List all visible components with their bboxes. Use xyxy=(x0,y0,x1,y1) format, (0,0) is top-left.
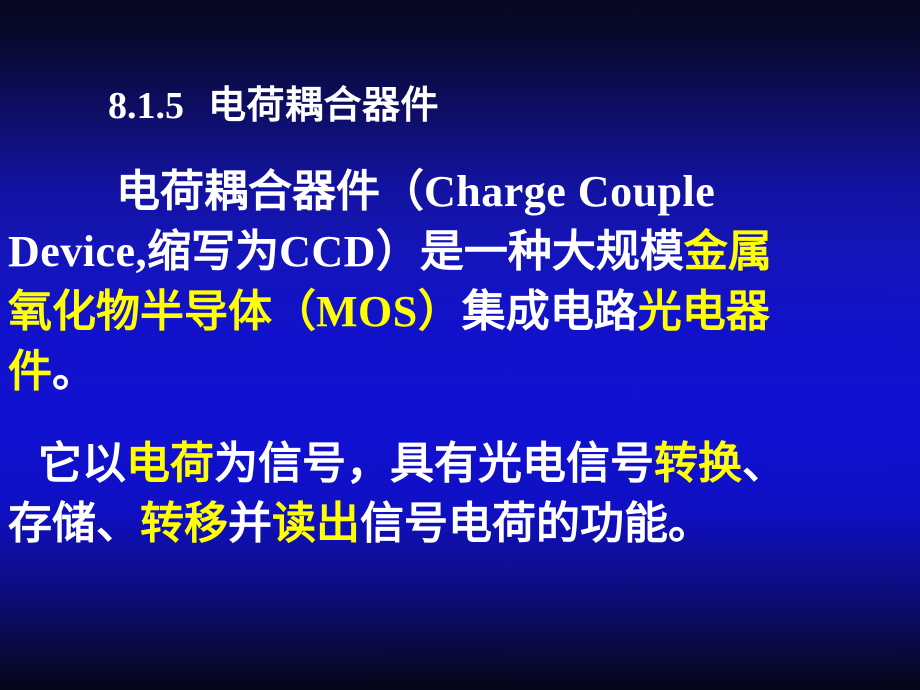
text-run: 它以 xyxy=(38,439,126,488)
text-run: 并 xyxy=(228,499,272,548)
text-run: 信号电荷的功能。 xyxy=(360,499,712,548)
text-run: 存储、 xyxy=(8,499,140,548)
text-run: 集成电路 xyxy=(462,287,638,336)
highlight-text-run: 电荷 xyxy=(126,439,214,488)
text-run: Device, xyxy=(8,227,147,276)
paragraph-function: 它以电荷为信号，具有光电信号转换、存储、转移并读出信号电荷的功能。 xyxy=(0,434,920,554)
slide-title: 8.1.5电荷耦合器件 xyxy=(108,83,439,129)
text-run: 电荷耦合器件（ xyxy=(116,167,424,216)
slide-title-number: 8.1.5 xyxy=(108,85,184,127)
highlight-text-run: ） xyxy=(418,287,462,336)
text-run: CCD xyxy=(279,227,376,276)
highlight-text-run: 件 xyxy=(8,347,52,396)
paragraph-definition: 电荷耦合器件（Charge CoupleDevice,缩写为CCD）是一种大规模… xyxy=(0,162,920,402)
highlight-text-run: 读出 xyxy=(272,499,360,548)
text-line: 氧化物半导体（MOS）集成电路光电器 xyxy=(0,282,920,342)
presentation-slide: 8.1.5电荷耦合器件 电荷耦合器件（Charge CoupleDevice,缩… xyxy=(0,0,920,690)
text-run: 。 xyxy=(52,347,96,396)
highlight-text-run: 氧化物半导体（ xyxy=(8,287,316,336)
text-line: 件。 xyxy=(0,342,920,402)
highlight-text-run: 转移 xyxy=(140,499,228,548)
highlight-text-run: MOS xyxy=(316,287,418,336)
highlight-text-run: 光电器 xyxy=(638,287,770,336)
text-run: 、 xyxy=(742,439,786,488)
text-line: 电荷耦合器件（Charge Couple xyxy=(0,162,920,222)
text-line: Device,缩写为CCD）是一种大规模金属 xyxy=(0,222,920,282)
text-line: 它以电荷为信号，具有光电信号转换、 xyxy=(0,434,920,494)
text-run: 缩写为 xyxy=(147,227,279,276)
text-line: 存储、转移并读出信号电荷的功能。 xyxy=(0,494,920,554)
highlight-text-run: 转换 xyxy=(654,439,742,488)
text-run: 为信号，具有光电信号 xyxy=(214,439,654,488)
text-run: Charge Couple xyxy=(424,167,715,216)
highlight-text-run: 金属 xyxy=(684,227,772,276)
text-run: ）是一种大规模 xyxy=(376,227,684,276)
slide-title-text: 电荷耦合器件 xyxy=(208,85,439,127)
